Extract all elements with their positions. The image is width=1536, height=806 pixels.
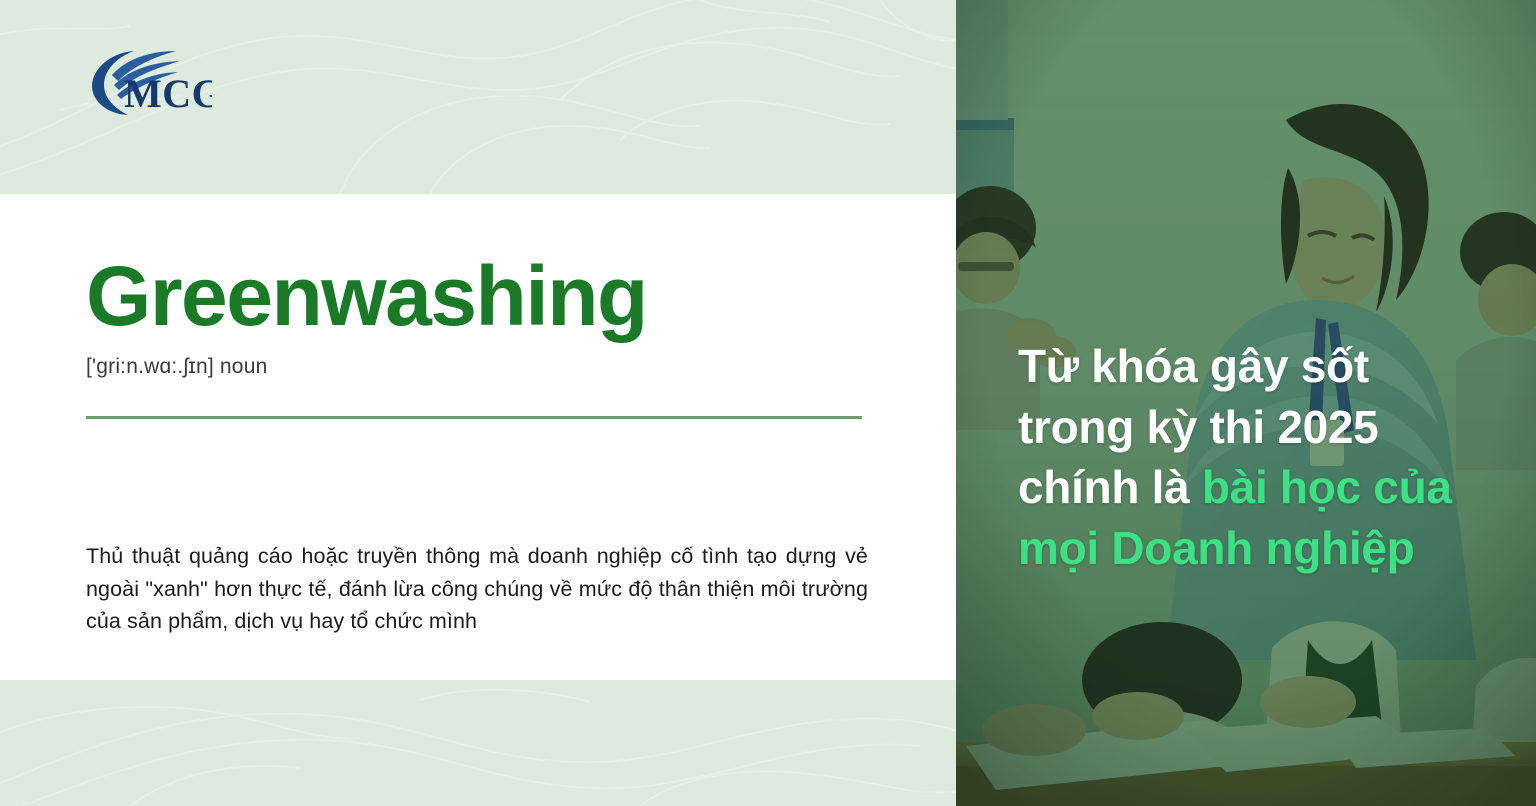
headline-line-2: trong kỳ thi 2025 — [1018, 397, 1488, 458]
phonetic-transcription: ['gri:n.wɑ:.ʃɪn] noun — [86, 355, 876, 379]
page-title: Greenwashing — [86, 252, 876, 341]
divider-rule — [86, 416, 862, 419]
slide-canvas: MCG Greenwashing ['gri:n.wɑ:.ʃɪn] noun T… — [0, 0, 1536, 806]
headline-line-3-accent: bài học của — [1202, 461, 1452, 513]
headline-line-1: Từ khóa gây sốt — [1018, 336, 1488, 397]
definition-text: Thủ thuật quảng cáo hoặc truyền thông mà… — [86, 540, 868, 638]
headline-line-3: chính là bài học của — [1018, 457, 1488, 518]
bottom-decorative-band — [0, 680, 956, 806]
headword-block: Greenwashing ['gri:n.wɑ:.ʃɪn] noun — [86, 252, 876, 379]
headline-line-3-white: chính là — [1018, 461, 1202, 513]
headline-line-4-accent: mọi Doanh nghiệp — [1018, 518, 1488, 579]
right-headline: Từ khóa gây sốt trong kỳ thi 2025 chính … — [1018, 336, 1488, 579]
logo-wordmark: MCG — [124, 71, 212, 116]
topographic-contour-texture-bottom — [0, 680, 956, 806]
mcg-logo: MCG — [88, 45, 212, 117]
left-content-panel: MCG Greenwashing ['gri:n.wɑ:.ʃɪn] noun T… — [0, 0, 956, 806]
